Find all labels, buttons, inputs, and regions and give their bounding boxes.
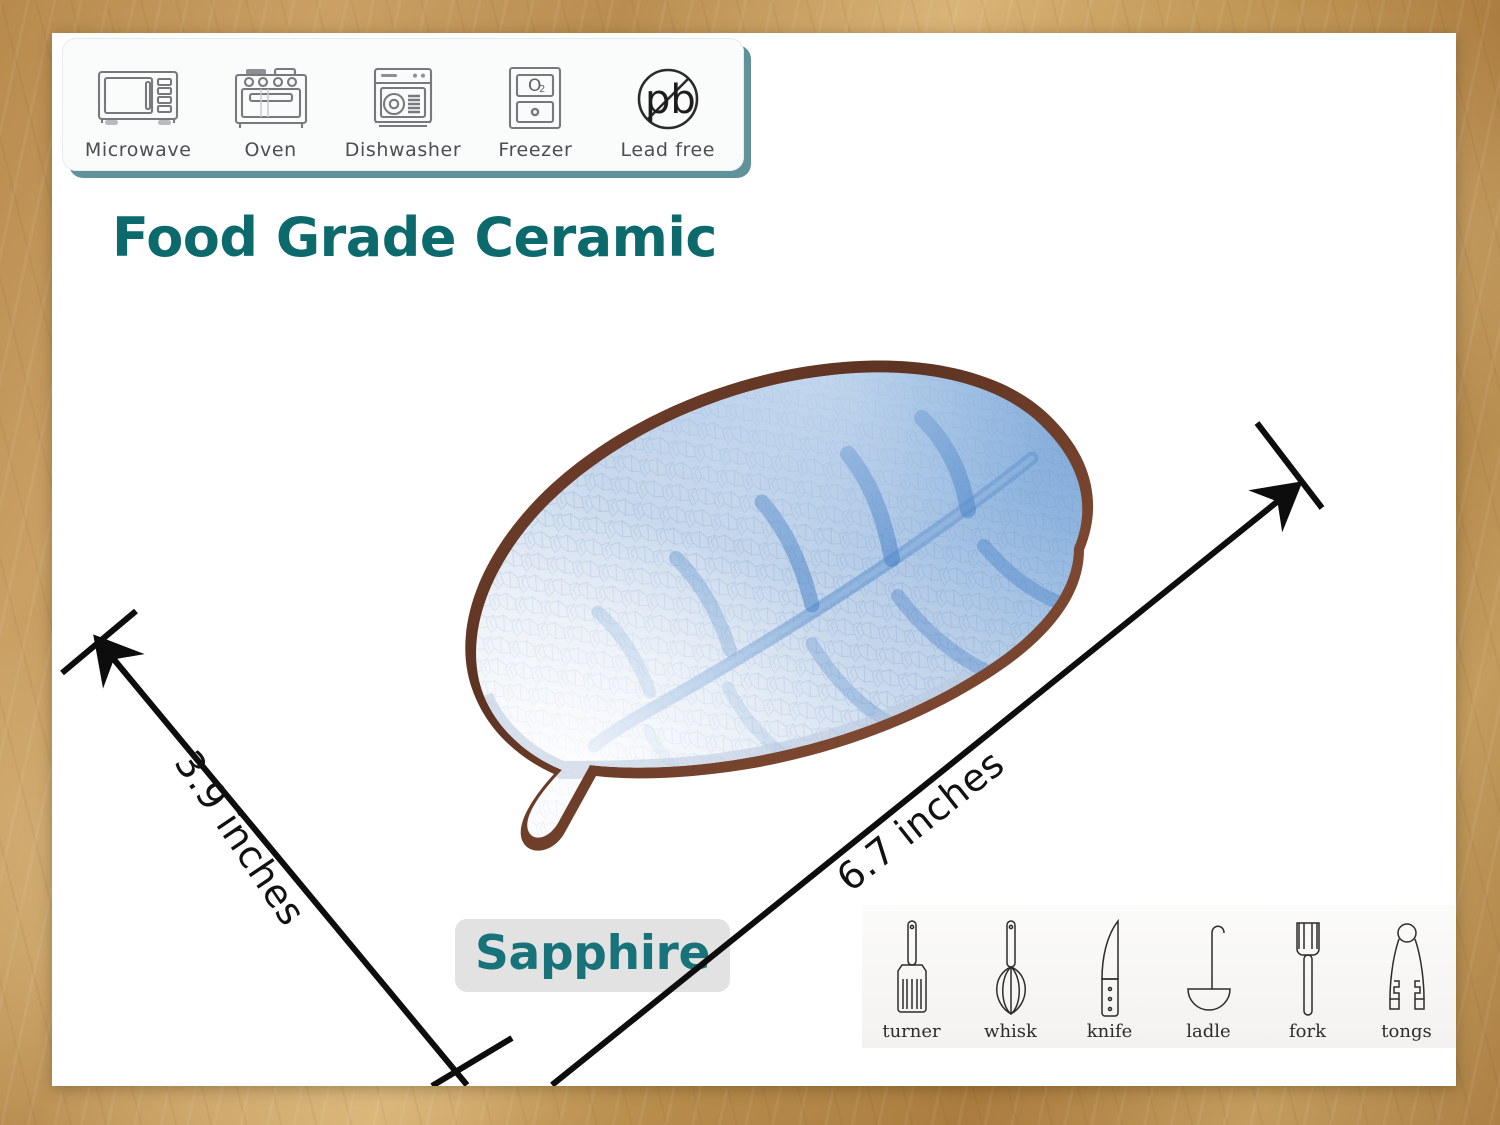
- utensil-knife: knife: [1060, 905, 1159, 1048]
- badge-label: Freezer: [498, 139, 572, 161]
- badge-dishwasher: Dishwasher: [337, 44, 469, 167]
- feature-badge-panel: Microwave Oven: [62, 38, 744, 171]
- no-lead-pb-icon: pb: [632, 63, 704, 135]
- ladle-icon: [1184, 917, 1234, 1019]
- freezer-icon: O 2: [506, 63, 564, 135]
- badge-label: Lead free: [621, 139, 716, 161]
- ceramic-leaf-dish-image: [332, 278, 1122, 898]
- badge-label: Microwave: [85, 139, 192, 161]
- utensil-label: turner: [882, 1021, 940, 1042]
- oven-icon: [231, 63, 311, 135]
- utensil-label: ladle: [1186, 1021, 1230, 1042]
- color-name-badge: Sapphire: [455, 919, 730, 992]
- product-image-card: Microwave Oven: [52, 33, 1456, 1086]
- knife-icon: [1087, 917, 1133, 1019]
- dishwasher-icon: [370, 63, 436, 135]
- utensil-tongs: tongs: [1357, 905, 1456, 1048]
- utensil-label: tongs: [1381, 1021, 1431, 1042]
- utensil-fork: fork: [1258, 905, 1357, 1048]
- fork-icon: [1285, 917, 1331, 1019]
- badge-lead-free: pb Lead free: [602, 44, 734, 167]
- svg-text:2: 2: [539, 84, 545, 95]
- utensils-panel: turner whisk: [862, 905, 1456, 1048]
- badge-oven: Oven: [204, 44, 336, 167]
- dish-glaze: [332, 278, 1122, 898]
- svg-text:pb: pb: [645, 77, 696, 123]
- utensil-label: whisk: [984, 1021, 1037, 1042]
- utensil-turner: turner: [862, 905, 961, 1048]
- length-tick-top: [1257, 423, 1322, 508]
- turner-icon: [889, 917, 935, 1019]
- width-tick-top: [62, 611, 136, 673]
- dimension-label-width: 3.9 inches: [166, 743, 314, 934]
- badge-label: Oven: [244, 139, 296, 161]
- utensil-ladle: ladle: [1159, 905, 1258, 1048]
- utensil-label: knife: [1087, 1021, 1133, 1042]
- width-tick-bottom: [432, 1038, 512, 1086]
- utensil-whisk: whisk: [961, 905, 1060, 1048]
- utensil-label: fork: [1289, 1021, 1326, 1042]
- badge-freezer: O 2 Freezer: [469, 44, 601, 167]
- page-title-food-grade: Food Grade Ceramic: [112, 206, 717, 269]
- badge-microwave: Microwave: [72, 44, 204, 167]
- whisk-icon: [988, 917, 1034, 1019]
- microwave-icon: [96, 63, 180, 135]
- badge-label: Dishwasher: [345, 139, 461, 161]
- tongs-icon: [1382, 917, 1432, 1019]
